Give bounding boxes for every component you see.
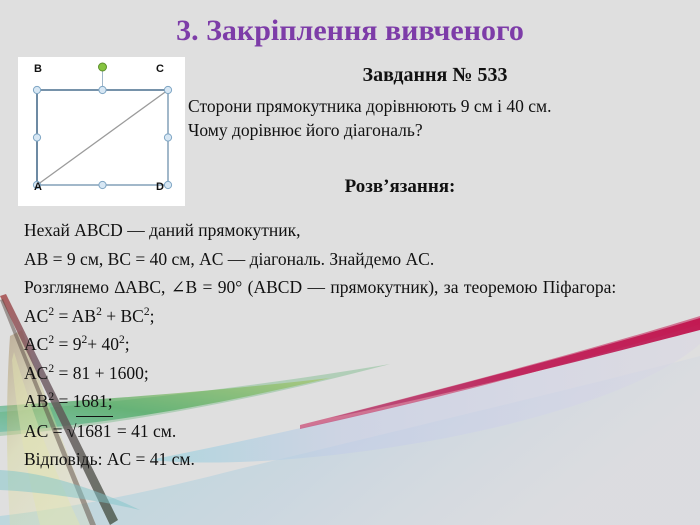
figure-rectangle-abcd[interactable]: B C A D <box>18 57 185 206</box>
eq2-middle: = 9 <box>54 334 81 354</box>
eq1-middle-2: + BC <box>102 306 144 326</box>
slide-canvas: 3. Закріплення вивченого <box>0 0 700 525</box>
solution-equation-2: AC2 = 92+ 402; <box>24 330 678 359</box>
eq2-middle-2: + 40 <box>87 334 119 354</box>
task-heading: Завдання № 533 <box>190 64 680 87</box>
solution-equation-3: AC2 = 81 + 1600; <box>24 359 678 388</box>
eq1-base: AC <box>24 306 48 326</box>
eq2-base: AC <box>24 334 48 354</box>
page-title: 3. Закріплення вивченого <box>0 14 700 48</box>
eq2-end: ; <box>125 334 130 354</box>
eq1-middle: = AB <box>54 306 96 326</box>
vertex-label-c: C <box>156 63 164 75</box>
solution-line-2: AB = 9 см, BC = 40 см, AC — діагональ. З… <box>24 245 678 274</box>
vertex-label-d: D <box>156 181 164 193</box>
solution-equation-4: AB2 = 1681; <box>24 387 678 416</box>
eq3-base: AC <box>24 363 48 383</box>
solution-body: Нехай ABCD — даний прямокутник, AB = 9 с… <box>24 216 678 474</box>
vertex-label-b: B <box>34 63 42 75</box>
solution-equation-5: AC = √1681 = 41 см. <box>24 416 678 446</box>
eq1-end: ; <box>150 306 155 326</box>
solution-line-1: Нехай ABCD — даний прямокутник, <box>24 216 678 245</box>
eq3-end: = 81 + 1600; <box>54 363 149 383</box>
vertex-label-a: A <box>34 181 42 193</box>
eq5-suffix: = 41 см. <box>113 421 177 441</box>
eq4-base: AB <box>24 391 48 411</box>
task-statement: Сторони прямокутника дорівнюють 9 см і 4… <box>188 94 680 142</box>
task-statement-line-1: Сторони прямокутника дорівнюють 9 см і 4… <box>188 94 680 118</box>
solution-line-3: Розглянемо ∆ABC, ∠B = 90° (ABCD — прямок… <box>24 273 678 302</box>
eq5-radicand: 1681 <box>76 416 113 446</box>
eq5-prefix: AC = √ <box>24 421 77 441</box>
solution-equation-1: AC2 = AB2 + BC2; <box>24 302 678 331</box>
task-statement-line-2: Чому дорівнює його діагональ? <box>188 118 680 142</box>
solution-answer: Відповідь: AC = 41 см. <box>24 445 678 474</box>
eq4-end: = 1681; <box>54 391 112 411</box>
solution-heading: Розв’язання: <box>190 176 610 198</box>
